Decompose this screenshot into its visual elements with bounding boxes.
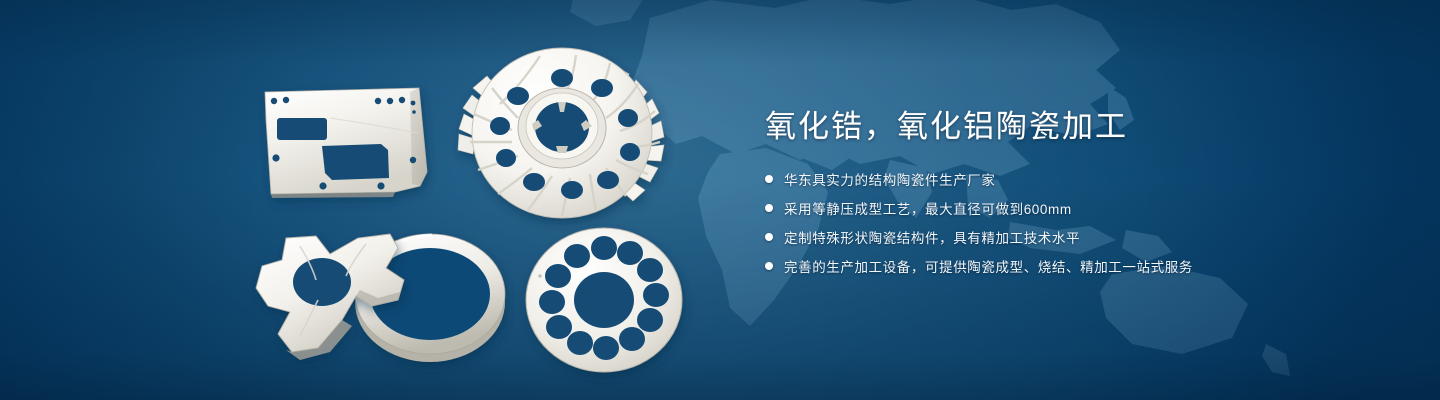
bullet-dot-icon — [765, 233, 773, 241]
bullet-dot-icon — [765, 204, 773, 212]
list-item-label: 采用等静压成型工艺，最大直径可做到600mm — [784, 198, 1072, 218]
feature-list: 华东具实力的结构陶瓷件生产厂家 采用等静压成型工艺，最大直径可做到600mm 定… — [765, 169, 1325, 276]
list-item-label: 华东具实力的结构陶瓷件生产厂家 — [784, 169, 996, 189]
product-photo-cluster — [0, 0, 720, 400]
product-ceramic-impeller — [458, 48, 664, 218]
bullet-dot-icon — [765, 175, 773, 183]
list-item: 华东具实力的结构陶瓷件生产厂家 — [765, 169, 1325, 189]
product-ceramic-flange-disc — [526, 228, 682, 372]
product-ceramic-plate — [265, 88, 427, 198]
list-item-label: 定制特殊形状陶瓷结构件，具有精加工技术水平 — [784, 227, 1080, 247]
banner-text-column: 氧化锆，氧化铝陶瓷加工 华东具实力的结构陶瓷件生产厂家 采用等静压成型工艺，最大… — [765, 108, 1325, 285]
page-title: 氧化锆，氧化铝陶瓷加工 — [765, 108, 1325, 147]
list-item: 定制特殊形状陶瓷结构件，具有精加工技术水平 — [765, 227, 1325, 247]
list-item-label: 完善的生产加工设备，可提供陶瓷成型、烧结、精加工一站式服务 — [784, 256, 1193, 276]
list-item: 采用等静压成型工艺，最大直径可做到600mm — [765, 198, 1325, 218]
hero-banner: 氧化锆，氧化铝陶瓷加工 华东具实力的结构陶瓷件生产厂家 采用等静压成型工艺，最大… — [0, 0, 1440, 400]
list-item: 完善的生产加工设备，可提供陶瓷成型、烧结、精加工一站式服务 — [765, 256, 1325, 276]
bullet-dot-icon — [765, 262, 773, 270]
